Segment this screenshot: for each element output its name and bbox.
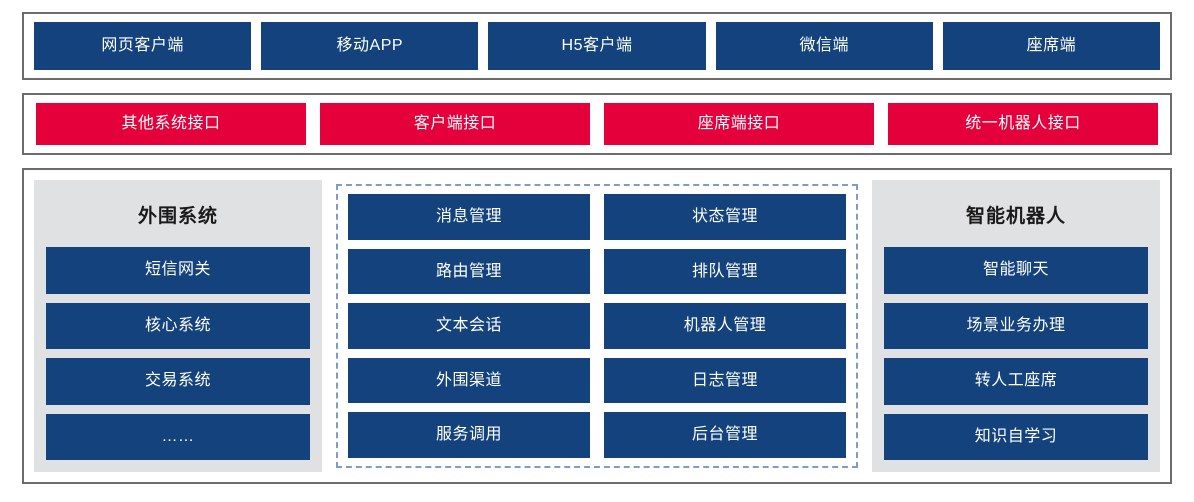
core-platform-group: 消息管理 路由管理 文本会话 外围渠道 服务调用 状态管理 排队管理 机器人管理… (336, 184, 858, 468)
core-chip-queue-management[interactable]: 排队管理 (604, 249, 846, 295)
peripheral-systems-group: 外围系统 短信网关 核心系统 交易系统 …… (34, 180, 322, 472)
client-chip-web[interactable]: 网页客户端 (34, 22, 251, 70)
interface-chip-unified-robot[interactable]: 统一机器人接口 (888, 103, 1158, 145)
clients-layer-panel: 网页客户端 移动APP H5客户端 微信端 座席端 (22, 12, 1172, 80)
peripheral-chip-sms-gateway[interactable]: 短信网关 (46, 247, 310, 294)
robot-chip-transfer-agent[interactable]: 转人工座席 (884, 358, 1148, 405)
interface-chip-other-systems[interactable]: 其他系统接口 (36, 103, 306, 145)
core-chip-service-invoke[interactable]: 服务调用 (348, 412, 590, 458)
intelligent-robot-group: 智能机器人 智能聊天 场景业务办理 转人工座席 知识自学习 (872, 180, 1160, 472)
core-chip-route-management[interactable]: 路由管理 (348, 249, 590, 295)
interfaces-layer-panel: 其他系统接口 客户端接口 座席端接口 统一机器人接口 (22, 93, 1172, 155)
core-chip-backend-management[interactable]: 后台管理 (604, 412, 846, 458)
core-chip-peripheral-channel[interactable]: 外围渠道 (348, 358, 590, 404)
robot-chip-scenario-business[interactable]: 场景业务办理 (884, 303, 1148, 350)
interface-chip-client[interactable]: 客户端接口 (320, 103, 590, 145)
robot-chip-self-learning[interactable]: 知识自学习 (884, 414, 1148, 461)
core-column-left: 消息管理 路由管理 文本会话 外围渠道 服务调用 (348, 194, 590, 458)
robot-chip-smart-chat[interactable]: 智能聊天 (884, 247, 1148, 294)
peripheral-systems-title: 外围系统 (46, 190, 310, 238)
core-chip-log-management[interactable]: 日志管理 (604, 358, 846, 404)
core-chip-text-session[interactable]: 文本会话 (348, 303, 590, 349)
interface-chip-agent[interactable]: 座席端接口 (604, 103, 874, 145)
client-chip-wechat[interactable]: 微信端 (716, 22, 933, 70)
platform-layer-panel: 外围系统 短信网关 核心系统 交易系统 …… 消息管理 路由管理 文本会话 外围… (22, 168, 1172, 484)
architecture-diagram: 网页客户端 移动APP H5客户端 微信端 座席端 其他系统接口 客户端接口 座… (0, 0, 1194, 502)
core-column-right: 状态管理 排队管理 机器人管理 日志管理 后台管理 (604, 194, 846, 458)
core-chip-robot-management[interactable]: 机器人管理 (604, 303, 846, 349)
peripheral-chip-core-system[interactable]: 核心系统 (46, 303, 310, 350)
spacer-left (322, 180, 328, 472)
client-chip-agent[interactable]: 座席端 (943, 22, 1160, 70)
intelligent-robot-title: 智能机器人 (884, 190, 1148, 238)
peripheral-chip-more[interactable]: …… (46, 414, 310, 461)
client-chip-h5[interactable]: H5客户端 (488, 22, 705, 70)
core-chip-status-management[interactable]: 状态管理 (604, 194, 846, 240)
peripheral-chip-trade-system[interactable]: 交易系统 (46, 358, 310, 405)
core-chip-message-management[interactable]: 消息管理 (348, 194, 590, 240)
client-chip-mobile[interactable]: 移动APP (261, 22, 478, 70)
